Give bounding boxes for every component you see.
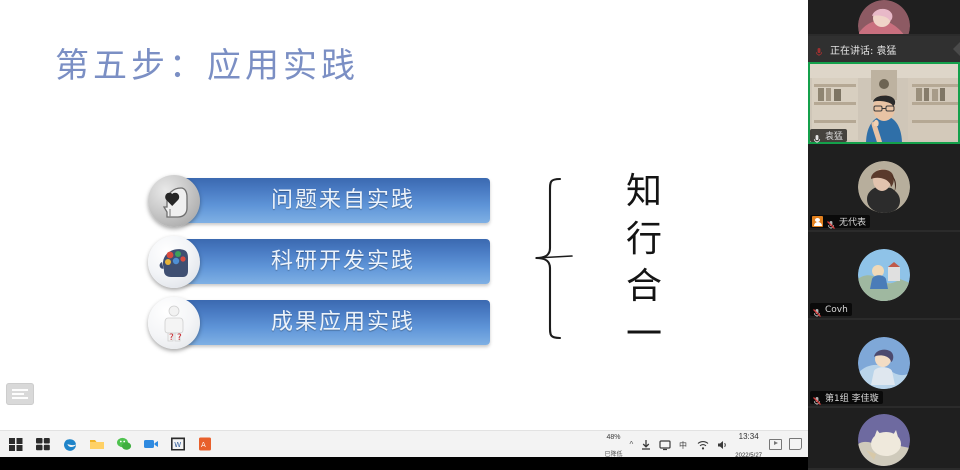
bar-shape-3[interactable]: 成果应用实践	[178, 300, 490, 345]
menu-line	[12, 397, 28, 399]
action-center-icon[interactable]	[789, 438, 802, 450]
vtext-char-3: 合	[617, 263, 671, 311]
vtext-char-4: 一	[617, 311, 671, 359]
svg-text:中: 中	[679, 440, 687, 450]
word-icon[interactable]: W	[170, 436, 186, 452]
svg-text:A: A	[201, 441, 206, 449]
bar-label-2: 科研开发实践	[178, 239, 490, 284]
taskbar-clock[interactable]: 13:34 2022/5/27	[735, 426, 762, 461]
participant-name: 无代表	[839, 215, 866, 228]
screen: 第五步：应用实践 问题来自实践 科研开发实践	[0, 0, 960, 456]
system-tray: 48% 已降低 ^ 中	[605, 426, 808, 461]
participant-name-label: 无代表	[810, 215, 870, 228]
bar-label-3: 成果应用实践	[178, 300, 490, 345]
head-gears-icon	[148, 236, 200, 288]
participant-name: Covh	[825, 305, 848, 315]
collapse-arrow-icon[interactable]	[953, 42, 960, 56]
clock-date: 2022/5/27	[735, 453, 762, 459]
svg-text:?: ?	[169, 333, 174, 343]
participant-tile[interactable]: 第1组 李佳璇	[808, 320, 960, 408]
presentation-slide[interactable]: 第五步：应用实践 问题来自实践 科研开发实践	[0, 0, 808, 430]
meeting-app-icon[interactable]	[143, 436, 159, 452]
windows-taskbar[interactable]: W A 48% 已降低 ^ 中	[0, 430, 808, 457]
media-icon[interactable]	[769, 439, 782, 450]
menu-line	[12, 389, 28, 391]
participant-name-label: Covh	[810, 303, 852, 316]
svg-text:?: ?	[177, 333, 182, 343]
slide-menu-button[interactable]	[6, 383, 34, 405]
edge-browser-icon[interactable]	[62, 436, 78, 452]
participant-name-label: 袁猛	[810, 129, 847, 142]
zoom-level-value: 48%	[607, 434, 621, 441]
curly-brace	[520, 176, 576, 341]
windows-start-icon[interactable]	[8, 436, 24, 452]
avatar	[858, 337, 910, 389]
bar-shape-2[interactable]: 科研开发实践	[178, 239, 490, 284]
download-icon[interactable]	[640, 438, 652, 450]
host-badge-icon	[812, 216, 823, 227]
vertical-text-zhixingheyi: 知 行 合 一	[617, 168, 671, 358]
participant-name-label: 第1组 李佳璇	[810, 391, 883, 404]
avatar	[858, 414, 910, 466]
mic-muted-icon	[826, 217, 836, 227]
task-view-icon[interactable]	[35, 436, 51, 452]
wechat-icon[interactable]	[116, 436, 132, 452]
participant-tile[interactable]	[808, 0, 960, 36]
participant-tile[interactable]: 无代表	[808, 144, 960, 232]
participant-name: 袁猛	[825, 129, 843, 142]
zoom-level-sublabel: 已降低	[605, 452, 623, 458]
bar-shape-1[interactable]: 问题来自实践	[178, 178, 490, 223]
display-icon[interactable]	[659, 438, 671, 450]
network-icon[interactable]	[697, 438, 709, 450]
participant-tile[interactable]	[808, 408, 960, 470]
vtext-char-2: 行	[617, 216, 671, 264]
participant-tile[interactable]: Covh	[808, 232, 960, 320]
clock-time: 13:34	[739, 432, 759, 441]
show-hidden-icons-chevron[interactable]: ^	[630, 440, 634, 449]
avatar	[858, 0, 910, 36]
ime-icon[interactable]: 中	[678, 438, 690, 450]
avatar	[858, 249, 910, 301]
volume-icon[interactable]	[716, 438, 728, 450]
mic-muted-icon	[812, 393, 822, 403]
speaking-banner: 正在讲话: 袁猛	[808, 36, 960, 62]
mic-active-icon	[812, 131, 822, 141]
figure-questions-icon: ? ?	[148, 297, 200, 349]
speaking-mic-icon	[814, 44, 824, 54]
page-title: 第五步：应用实践	[55, 38, 359, 87]
speaking-banner-text: 正在讲话: 袁猛	[830, 42, 897, 57]
file-explorer-icon[interactable]	[89, 436, 105, 452]
head-heart-icon	[148, 175, 200, 227]
mic-muted-icon	[812, 305, 822, 315]
meeting-participants-sidebar[interactable]: 正在讲话: 袁猛	[808, 0, 960, 456]
bar-label-1: 问题来自实践	[178, 178, 490, 223]
vtext-char-1: 知	[617, 168, 671, 216]
participant-tile-camera[interactable]: 袁猛	[808, 62, 960, 144]
menu-line	[12, 393, 24, 395]
participant-name: 第1组 李佳璇	[825, 391, 879, 404]
taskbar-icons: W A	[0, 436, 213, 452]
svg-text:W: W	[174, 441, 181, 449]
pdf-icon[interactable]: A	[197, 436, 213, 452]
avatar	[858, 161, 910, 213]
